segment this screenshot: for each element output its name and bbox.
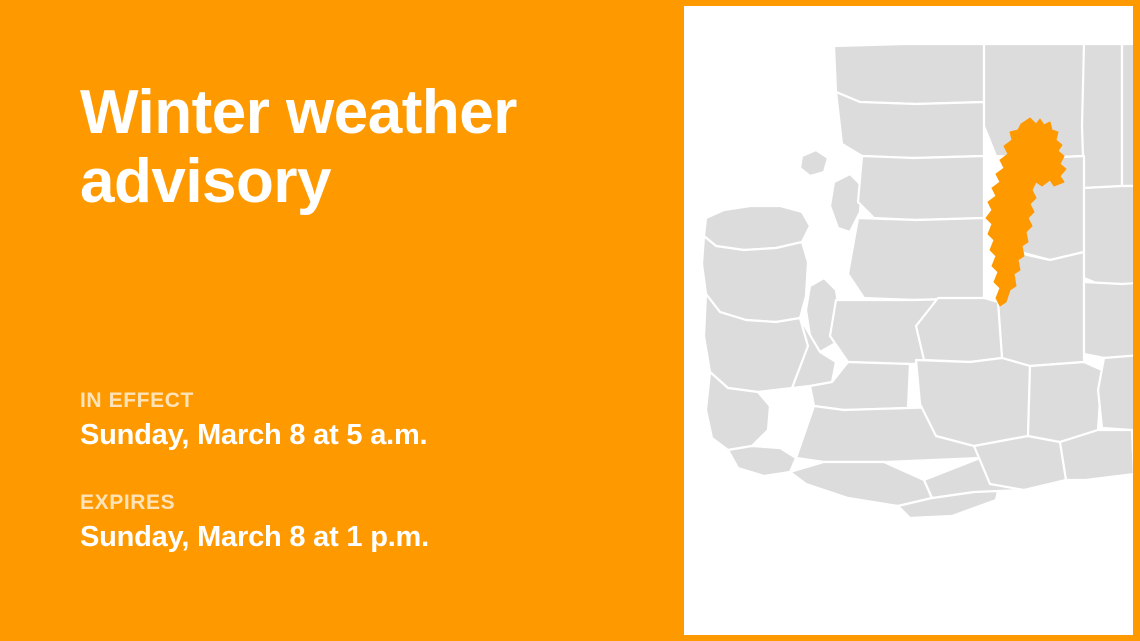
in-effect-value: Sunday, March 8 at 5 a.m. [80, 420, 427, 450]
county-stevens [1122, 44, 1133, 186]
county-adams [1084, 282, 1133, 358]
expires-label: EXPIRES [80, 492, 429, 513]
county-walla-walla [1060, 430, 1133, 480]
county-lincoln [1084, 186, 1133, 286]
page-title: Winter weather advisory [80, 78, 640, 217]
county-whitman [1098, 354, 1133, 430]
in-effect-label: IN EFFECT [80, 390, 427, 411]
county-cowlitz [790, 462, 932, 506]
county-franklin [1028, 362, 1102, 442]
in-effect-block: IN EFFECT Sunday, March 8 at 5 a.m. [80, 390, 427, 450]
map-counties-group [702, 44, 1133, 518]
county-san-juan [800, 150, 828, 176]
county-king [848, 218, 984, 300]
alert-info-panel: Winter weather advisory IN EFFECT Sunday… [0, 0, 684, 641]
expires-value: Sunday, March 8 at 1 p.m. [80, 522, 429, 552]
county-whatcom [834, 44, 984, 104]
washington-state-map [684, 6, 1133, 635]
county-wahkiakum [728, 446, 796, 476]
weather-alert-card: Winter weather advisory IN EFFECT Sunday… [0, 0, 1140, 641]
expires-block: EXPIRES Sunday, March 8 at 1 p.m. [80, 492, 429, 552]
map-panel [684, 6, 1133, 635]
county-snohomish [858, 156, 984, 220]
county-ferry [1082, 44, 1122, 188]
